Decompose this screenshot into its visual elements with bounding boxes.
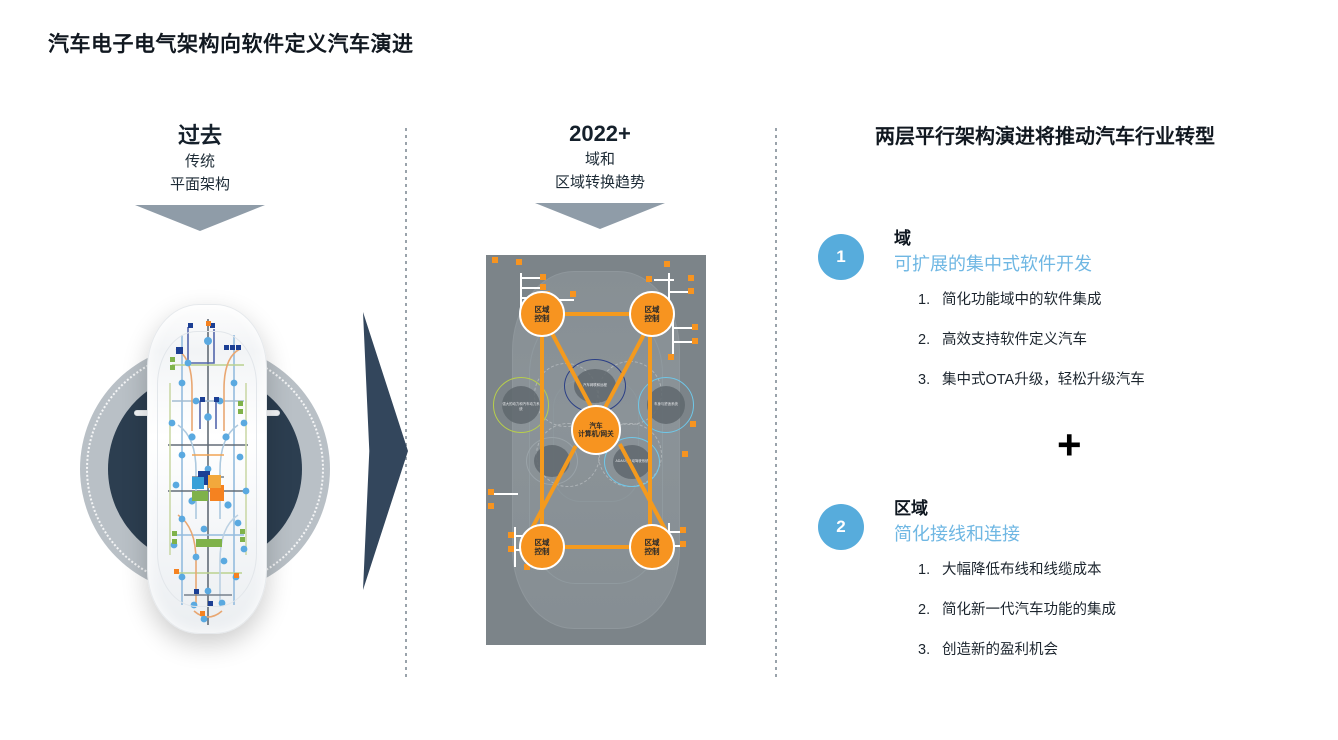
sensor-chip [664, 261, 670, 267]
list-item: 1. 大幅降低布线和线缆成本 [918, 561, 1116, 579]
zone-label-line1: 区域 [645, 538, 660, 547]
domain-block-title: 域 [894, 228, 1145, 250]
sensor-chip [690, 421, 696, 427]
list-item-text: 高效支持软件定义汽车 [942, 331, 1087, 349]
list-item-number: 1. [918, 561, 942, 579]
list-item-text: 集中式OTA升级，轻松升级汽车 [942, 371, 1145, 389]
sensor-chip [488, 489, 494, 495]
vehicle-computer-gateway[interactable]: 汽车 计算机/网关 [571, 405, 621, 455]
list-item-text: 简化新一代汽车功能的集成 [942, 601, 1116, 619]
domain-block-subtitle: 可扩展的集中式软件开发 [894, 251, 1145, 277]
sensor-chip [492, 257, 498, 263]
sensor-chip [692, 338, 698, 344]
transition-chevron-icon [363, 312, 408, 590]
list-item-number: 3. [918, 371, 942, 389]
list-item-number: 2. [918, 601, 942, 619]
sensor-chip [488, 503, 494, 509]
right-column-heading: 两层平行架构演进将推动汽车行业转型 [875, 120, 1215, 149]
page-title: 汽车电子电气架构向软件定义汽车演进 [48, 28, 414, 58]
sensor-stub [672, 341, 694, 343]
sensor-chip [688, 288, 694, 294]
sensor-chip [540, 284, 546, 290]
future-era-label: 2022+ [500, 120, 700, 148]
powertrain-domain-label: 强大的动力和汽车动力系统 [502, 402, 540, 411]
sensor-chip [570, 291, 576, 297]
sensor-stub [672, 327, 694, 329]
zone-label-line2: 控制 [535, 314, 550, 323]
sensor-chip [680, 527, 686, 533]
future-subtitle-line1: 域和 [500, 148, 700, 171]
step-badge-1: 1 [818, 234, 864, 280]
list-item-text: 创造新的盈利机会 [942, 641, 1058, 659]
list-item-number: 3. [918, 641, 942, 659]
slide-canvas: 汽车电子电气架构向软件定义汽车演进 过去 传统 平面架构 2022+ 域和 区域… [0, 0, 1338, 740]
zonal-block-subtitle: 简化接线和连接 [894, 521, 1116, 547]
zone-label-line2: 控制 [645, 547, 660, 556]
wiring-harness-svg [148, 305, 267, 634]
list-item: 3. 创造新的盈利机会 [918, 641, 1116, 659]
sensor-chip [680, 541, 686, 547]
zone-label-line2: 控制 [645, 314, 660, 323]
list-item: 2. 简化新一代汽车功能的集成 [918, 601, 1116, 619]
zonal-block-title: 区域 [894, 498, 1116, 520]
past-subtitle-line2: 平面架构 [100, 173, 300, 196]
list-item-number: 2. [918, 331, 942, 349]
zone-controller-top-right[interactable]: 区域 控制 [629, 291, 675, 337]
past-subtitle-line1: 传统 [100, 150, 300, 173]
column-divider-left [405, 128, 407, 680]
sensor-chip [516, 259, 522, 265]
future-column-header: 2022+ 域和 区域转换趋势 [500, 120, 700, 229]
sensor-stub [520, 277, 542, 279]
sensor-chip [540, 274, 546, 280]
sensor-chip [688, 275, 694, 281]
powertrain-domain-dome: 强大的动力和汽车动力系统 [502, 386, 540, 424]
legacy-car-topview [147, 304, 267, 634]
legacy-architecture-graphic [62, 282, 352, 664]
sensor-chip [682, 451, 688, 457]
step-badge-2: 2 [818, 504, 864, 550]
sensor-chip [668, 354, 674, 360]
zone-label-line2: 控制 [535, 547, 550, 556]
sensor-stub [520, 287, 542, 289]
zone-label-line1: 区域 [645, 305, 660, 314]
benefit-block-domain: 1 域 可扩展的集中式软件开发 1. 简化功能域中的软件集成 2. 高效支持软件… [818, 228, 1145, 411]
sensor-chip [692, 324, 698, 330]
future-subtitle-line2: 区域转换趋势 [500, 171, 700, 194]
zonal-architecture-graphic: 强大的动力和汽车动力系统 汽车网联和远程 车身与舒适系统 ADAS与自动驾驶系统 [486, 255, 706, 645]
column-divider-right [775, 128, 777, 680]
sensor-stub [654, 279, 674, 281]
past-era-label: 过去 [100, 122, 300, 150]
gateway-label-line2: 计算机/网关 [578, 430, 613, 438]
list-item: 2. 高效支持软件定义汽车 [918, 331, 1145, 349]
zone-label-line1: 区域 [535, 538, 550, 547]
past-column-header: 过去 传统 平面架构 [100, 122, 300, 231]
sensor-chip [646, 276, 652, 282]
zone-label-line1: 区域 [535, 305, 550, 314]
list-item-text: 简化功能域中的软件集成 [942, 291, 1102, 309]
body-domain-label: 车身与舒适系统 [647, 402, 685, 407]
list-item-text: 大幅降低布线和线缆成本 [942, 561, 1102, 579]
body-domain-dome: 车身与舒适系统 [647, 386, 685, 424]
zonal-benefit-list: 1. 大幅降低布线和线缆成本 2. 简化新一代汽车功能的集成 3. 创造新的盈利… [918, 561, 1116, 659]
zone-controller-bottom-right[interactable]: 区域 控制 [629, 524, 675, 570]
sensor-chip [508, 546, 514, 552]
list-item: 1. 简化功能域中的软件集成 [918, 291, 1145, 309]
down-arrow-icon [135, 205, 265, 231]
plus-separator-icon: + [1057, 424, 1082, 466]
benefit-block-zonal: 2 区域 简化接线和连接 1. 大幅降低布线和线缆成本 2. 简化新一代汽车功能… [818, 498, 1116, 681]
sensor-stub [514, 527, 516, 567]
sensor-stub [668, 291, 690, 293]
down-arrow-icon [535, 203, 665, 229]
gateway-label-line1: 汽车 [589, 422, 602, 430]
list-item-number: 1. [918, 291, 942, 309]
zone-controller-bottom-left[interactable]: 区域 控制 [519, 524, 565, 570]
backbone-link-right [648, 313, 652, 547]
sensor-chip [508, 532, 514, 538]
domain-benefit-list: 1. 简化功能域中的软件集成 2. 高效支持软件定义汽车 3. 集中式OTA升级… [918, 291, 1145, 389]
sensor-stub [492, 493, 518, 495]
list-item: 3. 集中式OTA升级，轻松升级汽车 [918, 371, 1145, 389]
zone-controller-top-left[interactable]: 区域 控制 [519, 291, 565, 337]
